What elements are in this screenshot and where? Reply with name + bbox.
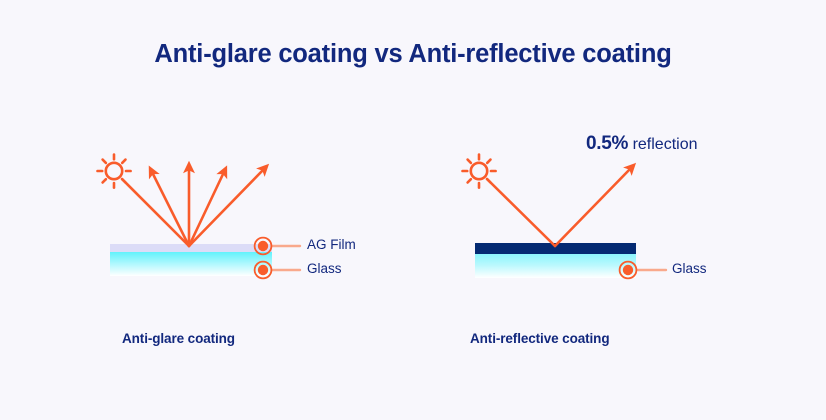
reflection-value: 0.5% — [586, 133, 628, 154]
incident-ray-right — [487, 179, 555, 246]
sun-icon — [98, 155, 131, 188]
caption-anti-reflective: Anti-reflective coating — [470, 331, 609, 346]
glass-layer-left — [110, 252, 272, 276]
reflected-ray-3 — [189, 172, 224, 246]
reflected-ray-1 — [152, 172, 189, 246]
reflected-ray-4 — [189, 169, 264, 246]
reflected-ray-right — [555, 168, 631, 246]
caption-anti-glare: Anti-glare coating — [122, 331, 235, 346]
sun-icon — [463, 155, 496, 188]
reflection-word: reflection — [633, 136, 698, 153]
glass-layer-right — [475, 254, 636, 278]
callout-label-ag-film: AG Film — [307, 237, 356, 252]
callout-label-glass-left: Glass — [307, 261, 342, 276]
ar-coating-layer — [475, 243, 636, 254]
infographic-canvas: Anti-glare coating vs Anti-reflective co… — [0, 0, 826, 420]
incident-ray-left — [122, 179, 189, 246]
ag-film-layer — [110, 244, 272, 252]
callout-label-glass-right: Glass — [672, 261, 707, 276]
reflection-readout: 0.5% reflection — [586, 133, 697, 155]
page-title: Anti-glare coating vs Anti-reflective co… — [0, 40, 826, 69]
